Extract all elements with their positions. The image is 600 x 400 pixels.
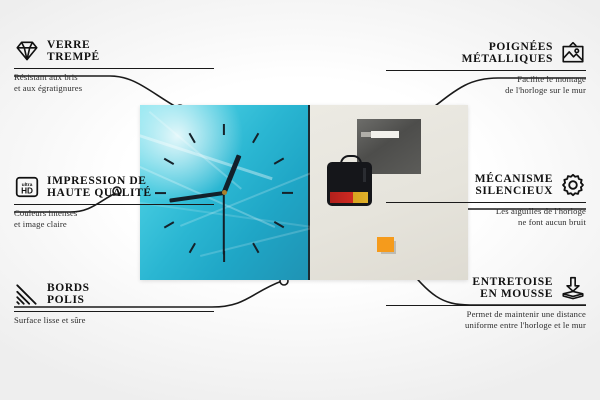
clock-tick	[189, 242, 196, 253]
feature-title-line2: HAUTE QUALITÉ	[47, 187, 152, 200]
clock-tick	[164, 157, 175, 164]
feature-title-line1: ENTRETOISE	[472, 276, 553, 289]
feature-divider	[386, 202, 586, 203]
feature-sub-line1: Les aiguilles de l'horloge	[386, 206, 586, 216]
clock-tick	[274, 157, 285, 164]
feature-verre-trempe: VERRE TREMPÉ Résistant aux bris et aux é…	[14, 38, 214, 93]
feature-title-line1: VERRE	[47, 39, 100, 52]
mechanism-slot	[363, 168, 366, 182]
feature-poignees-metalliques: POIGNÉES MÉTALLIQUES Facilite le montage…	[386, 40, 586, 95]
clock-tick	[189, 132, 196, 143]
clock-center-hub	[222, 190, 227, 195]
clock-tick	[223, 123, 225, 134]
feature-sub-line1: Facilite le montage	[386, 74, 586, 84]
clock-tick	[252, 242, 259, 253]
feature-sub-line2: ne font aucun bruit	[386, 217, 586, 227]
feature-title-line1: POIGNÉES	[462, 41, 553, 54]
feature-sub-line1: Permet de maintenir une distance	[386, 309, 586, 319]
feature-sub-line2: uniforme entre l'horloge et le mur	[386, 320, 586, 330]
feature-sub-line2: et aux égratignures	[14, 83, 214, 93]
feature-bords-polis: BORDS POLIS Surface lisse et sûre	[14, 281, 214, 326]
feature-divider	[14, 311, 214, 312]
clock-tick	[282, 191, 293, 193]
feature-title-line2: POLIS	[47, 294, 90, 307]
feature-sub-line2: et image claire	[14, 219, 214, 229]
feature-entretoise-en-mousse: ENTRETOISE EN MOUSSE Permet de maintenir…	[386, 275, 586, 330]
hanger-slot	[371, 131, 399, 138]
feature-sub-line1: Résistant aux bris	[14, 72, 214, 82]
svg-text:HD: HD	[21, 187, 33, 196]
press-down-pad-icon	[560, 275, 586, 301]
mechanism-hanger-loop	[340, 155, 362, 167]
feature-title-line2: EN MOUSSE	[472, 288, 553, 301]
feature-title-line1: MÉCANISME	[475, 173, 553, 186]
feature-mecanisme-silencieux: MÉCANISME SILENCIEUX Les aiguilles de l'…	[386, 172, 586, 227]
clock-tick	[252, 132, 259, 143]
gear-icon	[560, 172, 586, 198]
feature-sub-line1: Surface lisse et sûre	[14, 315, 214, 325]
feature-sub-line2: de l'horloge sur le mur	[386, 85, 586, 95]
feature-impression-haute-qualite: ultra HD IMPRESSION DE HAUTE QUALITÉ Cou…	[14, 174, 214, 229]
feature-divider	[14, 68, 214, 69]
feature-title-line1: BORDS	[47, 282, 90, 295]
clock-mechanism	[327, 162, 372, 206]
foam-spacer	[377, 237, 394, 252]
infographic-canvas: VERRE TREMPÉ Résistant aux bris et aux é…	[0, 0, 600, 400]
battery	[330, 192, 368, 203]
feature-sub-line1: Couleurs intenses	[14, 208, 214, 218]
feature-divider	[14, 204, 214, 205]
hanging-frame-icon	[560, 40, 586, 66]
ultra-hd-icon: ultra HD	[14, 174, 40, 200]
feature-title-line1: IMPRESSION DE	[47, 175, 152, 188]
feature-title-line2: TREMPÉ	[47, 51, 100, 64]
feature-divider	[386, 305, 586, 306]
polished-edge-icon	[14, 281, 40, 307]
feature-divider	[386, 70, 586, 71]
diamond-icon	[14, 38, 40, 64]
feature-title-line2: MÉTALLIQUES	[462, 53, 553, 66]
feature-title-line2: SILENCIEUX	[475, 185, 553, 198]
clock-second-hand	[223, 193, 225, 255]
